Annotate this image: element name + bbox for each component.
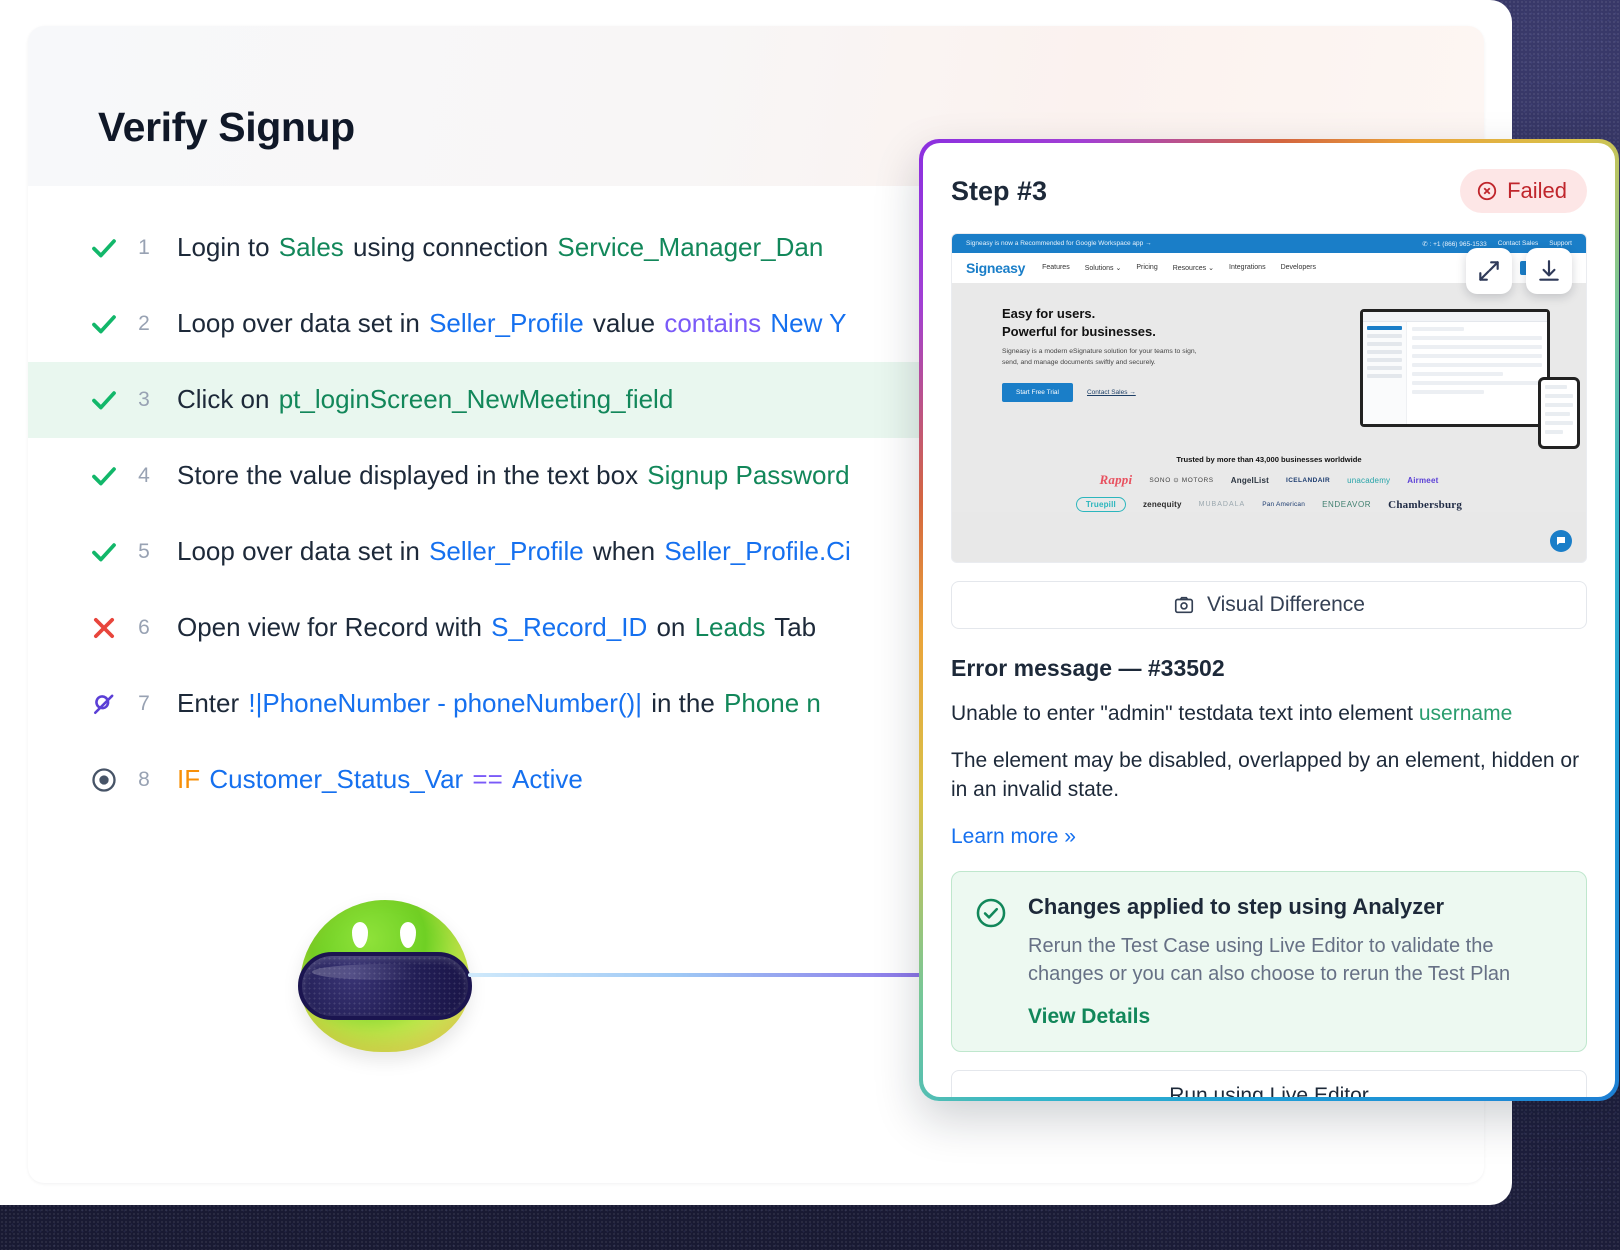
shot-hero: Easy for users. Powerful for businesses.… <box>952 283 1586 449</box>
shot-topbar-right: ✆ : +1 (866) 965-1533 Contact Sales Supp… <box>1422 240 1572 248</box>
shot-laptop-mockup <box>1360 309 1550 427</box>
step-number: 8 <box>124 768 164 792</box>
logo-truepill: Truepill <box>1076 497 1126 512</box>
logo-endeavor: ENDEAVOR <box>1322 500 1371 509</box>
shot-nav-developers: Developers <box>1281 264 1316 272</box>
visual-difference-label: Visual Difference <box>1207 593 1365 617</box>
step-token: Seller_Profile <box>428 308 585 338</box>
panel-header: Step #3 Failed <box>951 169 1587 213</box>
shot-contact-sales: Contact Sales <box>1498 240 1538 248</box>
check-icon <box>84 233 124 263</box>
error-message-line-1: Unable to enter "admin" testdata text in… <box>951 700 1587 729</box>
expand-button[interactable] <box>1466 248 1512 294</box>
step-token: Sales <box>278 232 345 262</box>
error-line-1-text: Unable to enter "admin" testdata text in… <box>951 702 1419 725</box>
step-token: Active <box>511 764 584 794</box>
shot-contact-sales-link: Contact Sales → <box>1087 389 1136 396</box>
step-token: Phone n <box>723 688 822 718</box>
step-token: in the <box>643 688 723 718</box>
step-token: !|PhoneNumber - phoneNumber()| <box>247 688 643 718</box>
shot-support: Support <box>1549 240 1572 248</box>
panel-step-title: Step #3 <box>951 176 1047 207</box>
step-description: Enter !|PhoneNumber - phoneNumber()| in … <box>164 688 822 719</box>
shot-hero-title-line1: Easy for users. <box>1002 306 1095 321</box>
expand-icon <box>1476 258 1502 284</box>
logo-pan-american: Pan American <box>1262 501 1305 508</box>
shot-nav-integrations: Integrations <box>1229 264 1266 272</box>
shot-hero-buttons: Start Free Trial Contact Sales → <box>1002 383 1202 402</box>
connector-line <box>468 973 938 977</box>
step-description: Open view for Record with S_Record_ID on… <box>164 612 817 643</box>
error-message-title: Error message — #33502 <box>951 655 1587 682</box>
status-badge: Failed <box>1460 169 1587 213</box>
download-icon <box>1536 258 1562 284</box>
logo-icelandair: ICELANDAIR <box>1286 477 1330 484</box>
camera-icon <box>1173 594 1195 616</box>
disabled-icon <box>84 690 124 718</box>
error-message-line-2: The element may be disabled, overlapped … <box>951 747 1587 805</box>
step-number: 3 <box>124 388 164 412</box>
step-token: == <box>464 764 511 794</box>
step-number: 5 <box>124 540 164 564</box>
shot-logos-row-1: Rappi SONO ⊙ MOTORS AngelList ICELANDAIR… <box>952 472 1586 488</box>
changes-applied-card: Changes applied to step using Analyzer R… <box>951 871 1587 1052</box>
step-description: Loop over data set in Seller_Profile val… <box>164 308 848 339</box>
shot-hero-title-line2: Powerful for businesses. <box>1002 324 1156 339</box>
shot-start-free-trial-button: Start Free Trial <box>1002 383 1073 402</box>
check-icon <box>84 461 124 491</box>
step-token: contains <box>663 308 762 338</box>
check-icon <box>84 385 124 415</box>
shot-nav-features: Features <box>1042 264 1070 272</box>
logo-airmeet: Airmeet <box>1407 476 1438 485</box>
shot-logos-row-2: Truepill zenequity MUBADALA Pan American… <box>952 497 1586 512</box>
step-description: Click on pt_loginScreen_NewMeeting_field <box>164 384 674 415</box>
step-token: value <box>585 308 664 338</box>
cross-icon <box>84 614 124 642</box>
step-token: Enter <box>176 688 247 718</box>
circle-x-icon <box>1476 180 1498 202</box>
step-token: pt_loginScreen_NewMeeting_field <box>278 384 675 414</box>
view-details-link[interactable]: View Details <box>1028 1005 1150 1029</box>
step-token: using connection <box>345 232 557 262</box>
step-token: Open view for Record with <box>176 612 490 642</box>
logo-angellist: AngelList <box>1231 476 1269 485</box>
step-number: 6 <box>124 616 164 640</box>
page-title: Verify Signup <box>98 104 355 151</box>
shot-nav-resources: Resources ⌄ <box>1173 264 1214 272</box>
step-description: IF Customer_Status_Var == Active <box>164 764 584 795</box>
step-detail-panel-inner: Step #3 Failed Signeasy is now a Recomme… <box>923 143 1615 1097</box>
shot-nav-links: Features Solutions ⌄ Pricing Resources ⌄… <box>1042 264 1316 272</box>
step-token: Customer_Status_Var <box>208 764 464 794</box>
logo-sono-motors: SONO ⊙ MOTORS <box>1149 476 1213 484</box>
run-using-live-editor-button[interactable]: Run using Live Editor <box>951 1070 1587 1097</box>
visual-difference-button[interactable]: Visual Difference <box>951 581 1587 629</box>
step-token: when <box>585 536 664 566</box>
logo-rappi: Rappi <box>1100 472 1133 488</box>
step-token: Seller_Profile.Ci <box>663 536 851 566</box>
status-badge-label: Failed <box>1507 178 1567 204</box>
shot-hero-title: Easy for users. Powerful for businesses. <box>1002 305 1202 340</box>
check-icon <box>84 537 124 567</box>
shot-announcement-text: Signeasy is now a Recommended for Google… <box>966 240 1152 247</box>
step-token: Leads <box>694 612 767 642</box>
logo-mubadala: MUBADALA <box>1199 501 1246 508</box>
shot-brand-logo: Signeasy <box>966 260 1025 276</box>
robot-visor <box>298 952 472 1020</box>
step-number: 2 <box>124 312 164 336</box>
step-token: Signup Password <box>646 460 850 490</box>
step-detail-panel: Step #3 Failed Signeasy is now a Recomme… <box>919 139 1619 1101</box>
check-circle-icon <box>974 894 1010 1029</box>
step-description: Store the value displayed in the text bo… <box>164 460 851 491</box>
step-token: New Y <box>762 308 847 338</box>
screenshot-tools <box>1466 248 1572 294</box>
changes-applied-title: Changes applied to step using Analyzer <box>1028 894 1562 920</box>
logo-zenequity: zenequity <box>1143 500 1182 509</box>
download-button[interactable] <box>1526 248 1572 294</box>
shot-nav-pricing: Pricing <box>1136 264 1157 272</box>
step-token: on <box>648 612 693 642</box>
step-token: Seller_Profile <box>428 536 585 566</box>
step-description: Loop over data set in Seller_Profile whe… <box>164 536 852 567</box>
record-icon <box>84 766 124 794</box>
logo-unacademy: unacademy <box>1347 476 1390 485</box>
shot-phone-mockup <box>1538 377 1580 449</box>
step-token: S_Record_ID <box>490 612 648 642</box>
step-number: 4 <box>124 464 164 488</box>
shot-trusted-heading: Trusted by more than 43,000 businesses w… <box>952 455 1586 464</box>
step-token: Click on <box>176 384 278 414</box>
step-number: 1 <box>124 236 164 260</box>
shot-trusted-section: Trusted by more than 43,000 businesses w… <box>952 449 1586 512</box>
error-element-name: username <box>1419 702 1512 725</box>
shot-nav-solutions: Solutions ⌄ <box>1085 264 1122 272</box>
step-token: Loop over data set in <box>176 308 428 338</box>
step-token: Service_Manager_Dan <box>556 232 824 262</box>
shot-phone-text: ✆ : +1 (866) 965-1533 <box>1422 240 1487 248</box>
check-icon <box>84 309 124 339</box>
step-screenshot[interactable]: Signeasy is now a Recommended for Google… <box>951 233 1587 563</box>
assistant-robot-avatar <box>300 900 470 1052</box>
step-token: Loop over data set in <box>176 536 428 566</box>
step-token: Store the value displayed in the text bo… <box>176 460 646 490</box>
step-token: Tab <box>766 612 817 642</box>
step-number: 7 <box>124 692 164 716</box>
shot-hero-subtitle: Signeasy is a modern eSignature solution… <box>1002 347 1202 369</box>
logo-chambersburg: Chambersburg <box>1388 499 1462 511</box>
changes-applied-body: Rerun the Test Case using Live Editor to… <box>1028 932 1562 989</box>
step-token: Login to <box>176 232 278 262</box>
chat-bubble-icon[interactable] <box>1550 530 1572 552</box>
step-token: IF <box>176 764 208 794</box>
step-description: Login to Sales using connection Service_… <box>164 232 824 263</box>
learn-more-link[interactable]: Learn more » <box>951 825 1076 849</box>
